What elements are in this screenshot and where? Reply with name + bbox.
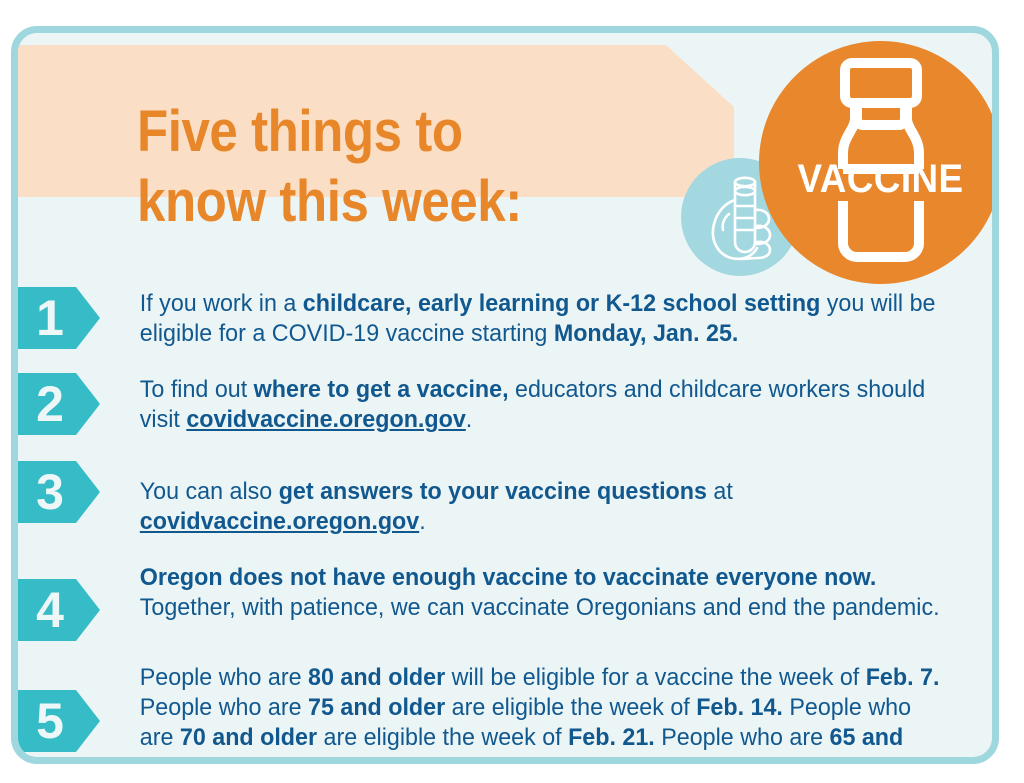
list-item-text: People who are 80 and older will be elig…	[100, 663, 965, 764]
list-item-text: You can also get answers to your vaccine…	[100, 477, 965, 537]
list-item-text: If you work in a childcare, early learni…	[100, 289, 965, 349]
list-item-number-badge: 4	[18, 579, 100, 641]
list-item: 1 If you work in a childcare, early lear…	[18, 287, 992, 349]
page-title: Five things to know this week:	[137, 97, 630, 237]
list-item-number-badge: 1	[18, 287, 100, 349]
list-item-text: To find out where to get a vaccine, educ…	[100, 375, 965, 435]
list-item: 2 To find out where to get a vaccine, ed…	[18, 373, 992, 435]
vaccine-label: VACCINE	[769, 157, 993, 202]
list-item: 4 Oregon does not have enough vaccine to…	[18, 561, 992, 641]
covidvaccine-link[interactable]: covidvaccine.oregon.gov	[140, 508, 419, 535]
list-item: 3 You can also get answers to your vacci…	[18, 461, 992, 537]
list-item-number-badge: 2	[18, 373, 100, 435]
infographic-root: Five things to know this week:	[0, 0, 1024, 783]
things-to-know-list: 1 If you work in a childcare, early lear…	[18, 251, 992, 764]
list-item: 5 People who are 80 and older will be el…	[18, 663, 992, 764]
infographic-card: Five things to know this week:	[11, 26, 999, 764]
covidvaccine-link[interactable]: covidvaccine.oregon.gov	[186, 406, 465, 433]
list-item-number-badge: 3	[18, 461, 100, 523]
list-item-text: Oregon does not have enough vaccine to v…	[100, 563, 965, 623]
list-item-number-badge: 5	[18, 690, 100, 752]
vaccine-vial-icon: VACCINE	[759, 41, 999, 284]
